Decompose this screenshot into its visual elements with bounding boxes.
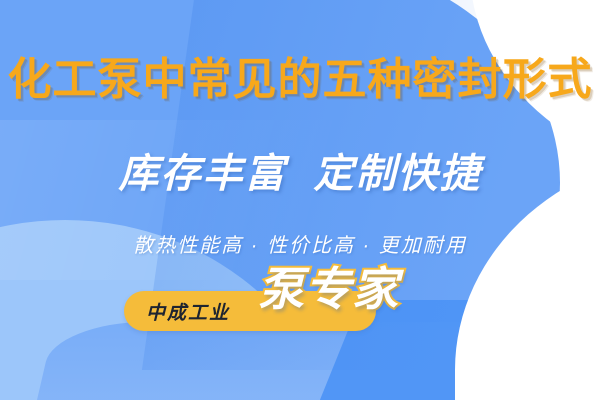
banner-subheadline: 库存丰富 定制快捷 bbox=[0, 152, 600, 197]
promo-banner: 化工泵中常见的五种密封形式 库存丰富 定制快捷 散热性能高 · 性价比高 · 更… bbox=[0, 0, 600, 400]
badge-company-name: 中成工业 bbox=[146, 291, 230, 331]
banner-content: 化工泵中常见的五种密封形式 库存丰富 定制快捷 散热性能高 · 性价比高 · 更… bbox=[0, 0, 600, 400]
banner-tagline: 散热性能高 · 性价比高 · 更加耐用 bbox=[0, 234, 600, 258]
subheadline-part-two: 定制快捷 bbox=[313, 152, 481, 197]
badge-expert-label: 泵专家 bbox=[258, 266, 399, 312]
banner-headline: 化工泵中常见的五种密封形式 bbox=[0, 58, 600, 102]
subheadline-part-one: 库存丰富 bbox=[119, 152, 287, 197]
brand-badge: 中成工业 泵专家 bbox=[124, 291, 376, 331]
